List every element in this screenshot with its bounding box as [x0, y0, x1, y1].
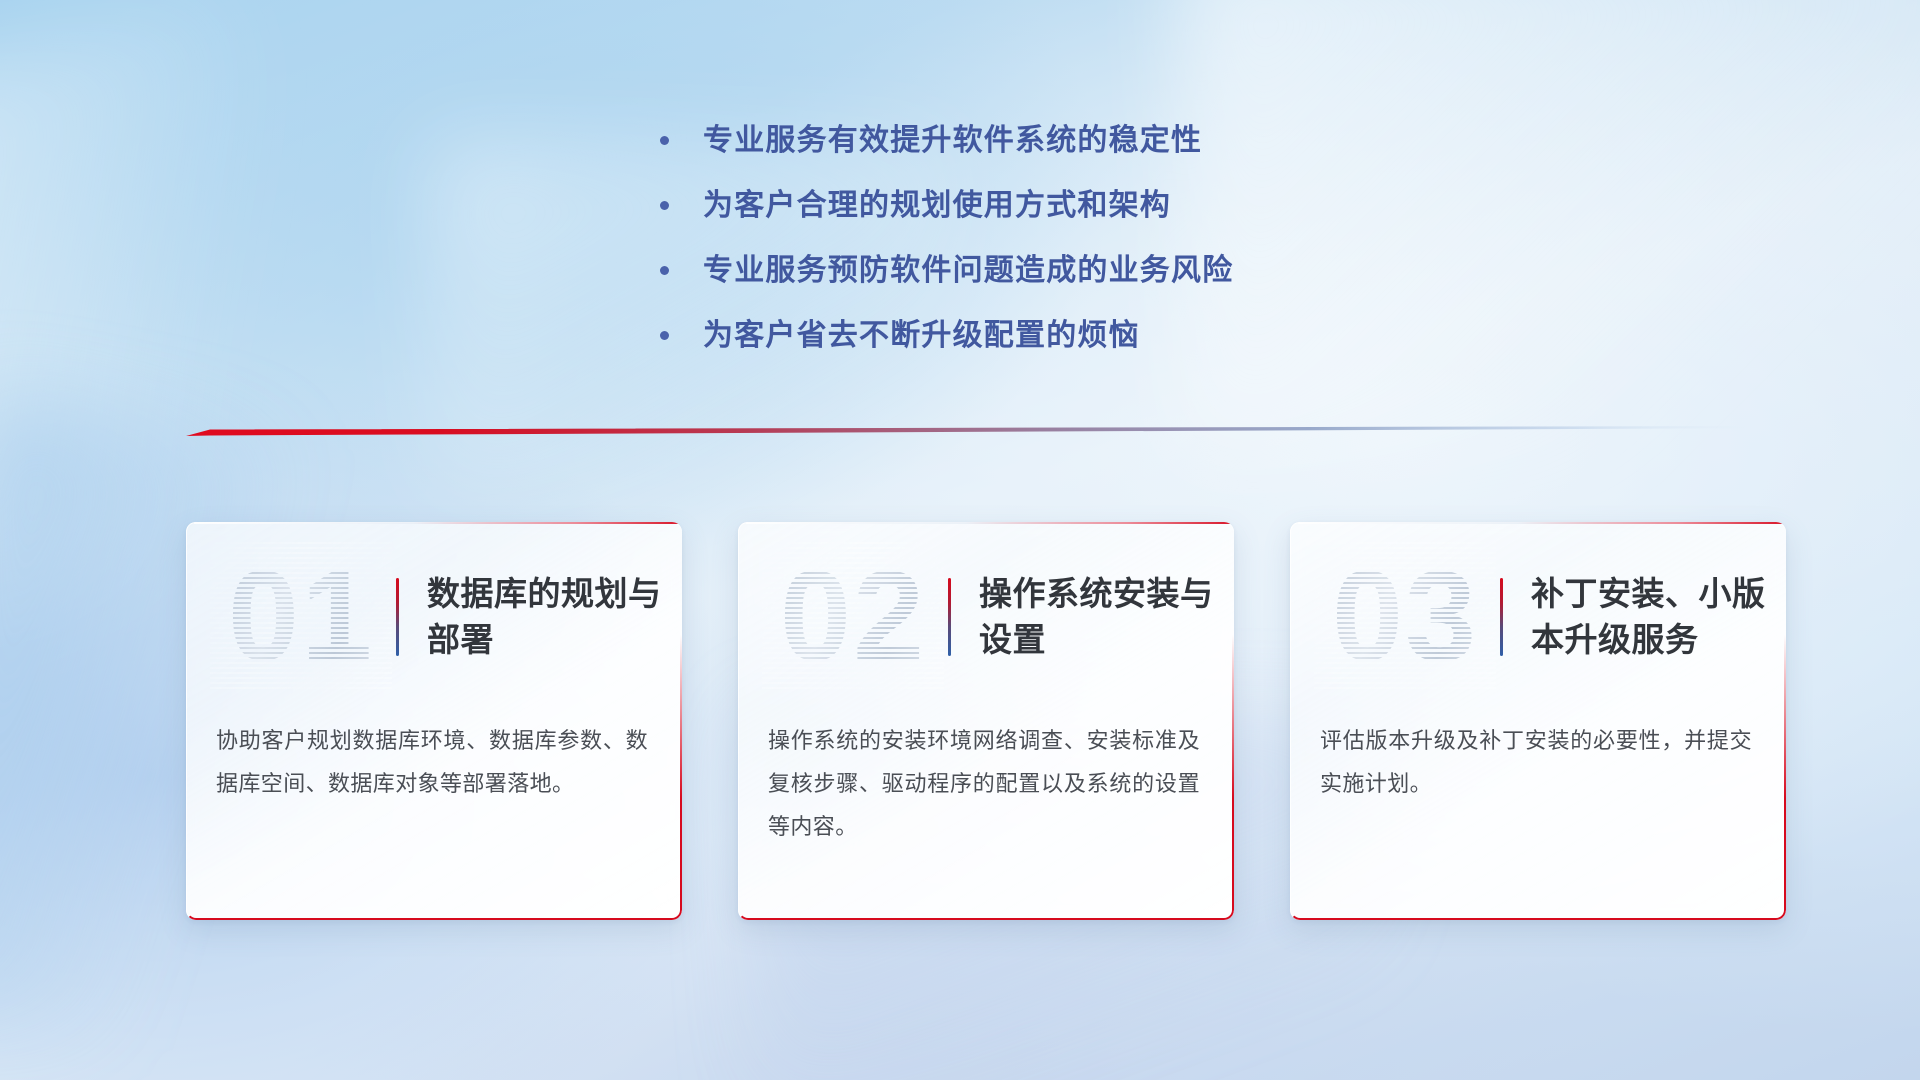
- bullet-dot-icon: [660, 201, 669, 210]
- card-description: 评估版本升级及补丁安装的必要性，并提交实施计划。: [1290, 712, 1786, 806]
- card-description: 协助客户规划数据库环境、数据库参数、数据库空间、数据库对象等部署落地。: [186, 712, 682, 806]
- list-item: 专业服务预防软件问题造成的业务风险: [660, 238, 1480, 303]
- list-item: 为客户省去不断升级配置的烦恼: [660, 303, 1480, 368]
- list-item: 专业服务有效提升软件系统的稳定性: [660, 108, 1480, 173]
- card-header: 02 操作系统安装与设置: [738, 522, 1234, 712]
- bullet-dot-icon: [660, 136, 669, 145]
- benefits-bullet-list: 专业服务有效提升软件系统的稳定性 为客户合理的规划使用方式和架构 专业服务预防软…: [660, 108, 1480, 368]
- service-card[interactable]: 03 补丁安装、小版本升级服务 评估版本升级及补丁安装的必要性，并提交实施计划。: [1290, 522, 1786, 920]
- card-divider-bar: [948, 578, 951, 656]
- section-divider: [186, 424, 1746, 442]
- card-divider-bar: [1500, 578, 1503, 656]
- bullet-label: 为客户省去不断升级配置的烦恼: [703, 318, 1140, 354]
- bullet-dot-icon: [660, 266, 669, 275]
- card-number-watermark: 02: [762, 542, 944, 692]
- card-title: 操作系统安装与设置: [979, 571, 1229, 662]
- bullet-dot-icon: [660, 331, 669, 340]
- card-number-watermark: 03: [1314, 542, 1496, 692]
- card-title: 数据库的规划与部署: [427, 571, 677, 662]
- bullet-label: 为客户合理的规划使用方式和架构: [703, 188, 1171, 224]
- card-divider-bar: [396, 578, 399, 656]
- service-card[interactable]: 01 数据库的规划与部署 协助客户规划数据库环境、数据库参数、数据库空间、数据库…: [186, 522, 682, 920]
- bullet-label: 专业服务有效提升软件系统的稳定性: [703, 123, 1202, 159]
- service-card-row: 01 数据库的规划与部署 协助客户规划数据库环境、数据库参数、数据库空间、数据库…: [186, 522, 1786, 920]
- bullet-label: 专业服务预防软件问题造成的业务风险: [703, 253, 1233, 289]
- card-header: 01 数据库的规划与部署: [186, 522, 682, 712]
- slide-canvas: 专业服务有效提升软件系统的稳定性 为客户合理的规划使用方式和架构 专业服务预防软…: [0, 0, 1920, 1080]
- list-item: 为客户合理的规划使用方式和架构: [660, 173, 1480, 238]
- card-title: 补丁安装、小版本升级服务: [1531, 571, 1781, 662]
- card-header: 03 补丁安装、小版本升级服务: [1290, 522, 1786, 712]
- card-description: 操作系统的安装环境网络调查、安装标准及复核步骤、驱动程序的配置以及系统的设置等内…: [738, 712, 1234, 849]
- card-number-watermark: 01: [210, 542, 392, 692]
- service-card[interactable]: 02 操作系统安装与设置 操作系统的安装环境网络调查、安装标准及复核步骤、驱动程…: [738, 522, 1234, 920]
